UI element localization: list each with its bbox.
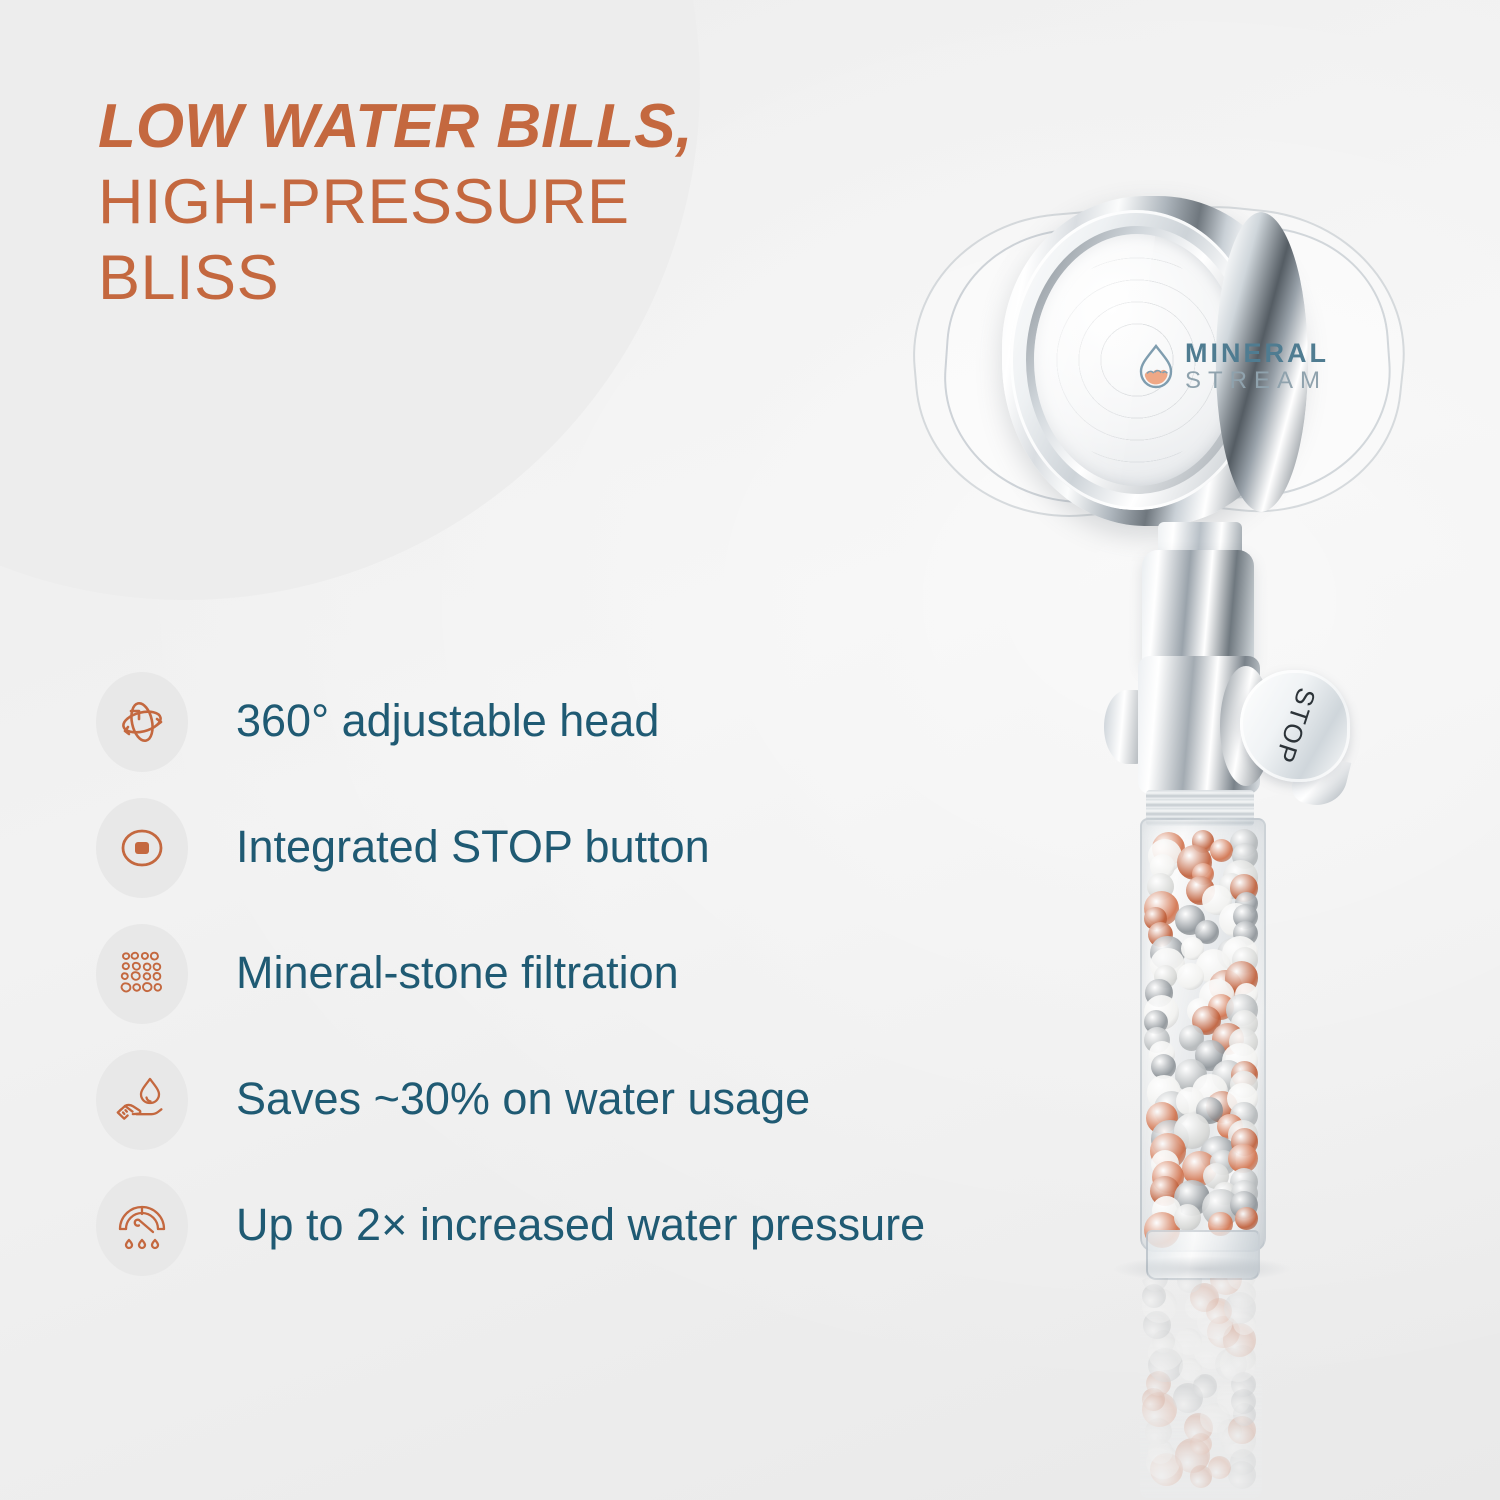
headline-line-2: HIGH-PRESSURE (98, 171, 778, 234)
mineral-bead (1208, 1456, 1231, 1479)
mineral-stones-icon (96, 924, 188, 1024)
brand-wordmark: MINERAL STREAM (1185, 340, 1329, 393)
brand-name-primary: MINERAL (1185, 340, 1329, 367)
swivel-joint (1142, 550, 1254, 668)
mineral-bead (1177, 963, 1204, 990)
product-reflection (1140, 1278, 1262, 1498)
rotation-360-icon (96, 672, 188, 772)
list-item-label: Up to 2× increased water pressure (236, 1176, 925, 1251)
headline-line-3: BLISS (98, 247, 778, 310)
mineral-bead (1235, 1207, 1258, 1230)
infographic-canvas: LOW WATER BILLS, HIGH-PRESSURE BLISS 360… (0, 0, 1500, 1500)
stop-button[interactable]: STOP (1240, 670, 1350, 782)
page-title: LOW WATER BILLS, HIGH-PRESSURE BLISS (98, 96, 778, 323)
mineral-bead (1175, 1328, 1202, 1355)
list-item-label: Integrated STOP button (236, 798, 710, 873)
mineral-bead (1174, 1204, 1201, 1231)
hand-water-drop-icon (96, 1050, 188, 1150)
brand-logo: MINERAL STREAM (1136, 340, 1329, 393)
list-item-label: 360° adjustable head (236, 672, 659, 747)
stop-button-label: STOP (1268, 684, 1322, 768)
stop-button-icon (96, 798, 188, 898)
water-drop-logo-icon (1136, 343, 1176, 391)
mineral-bead (1210, 839, 1233, 862)
brand-name-secondary: STREAM (1185, 369, 1329, 393)
pressure-gauge-icon (96, 1176, 188, 1276)
product-photo: MINERAL STREAM STOP (890, 150, 1450, 1330)
headline-line-1: LOW WATER BILLS, (98, 96, 778, 158)
mineral-filter-cartridge (1140, 818, 1266, 1252)
list-item-label: Mineral-stone filtration (236, 924, 679, 999)
list-item-label: Saves ~30% on water usage (236, 1050, 810, 1125)
